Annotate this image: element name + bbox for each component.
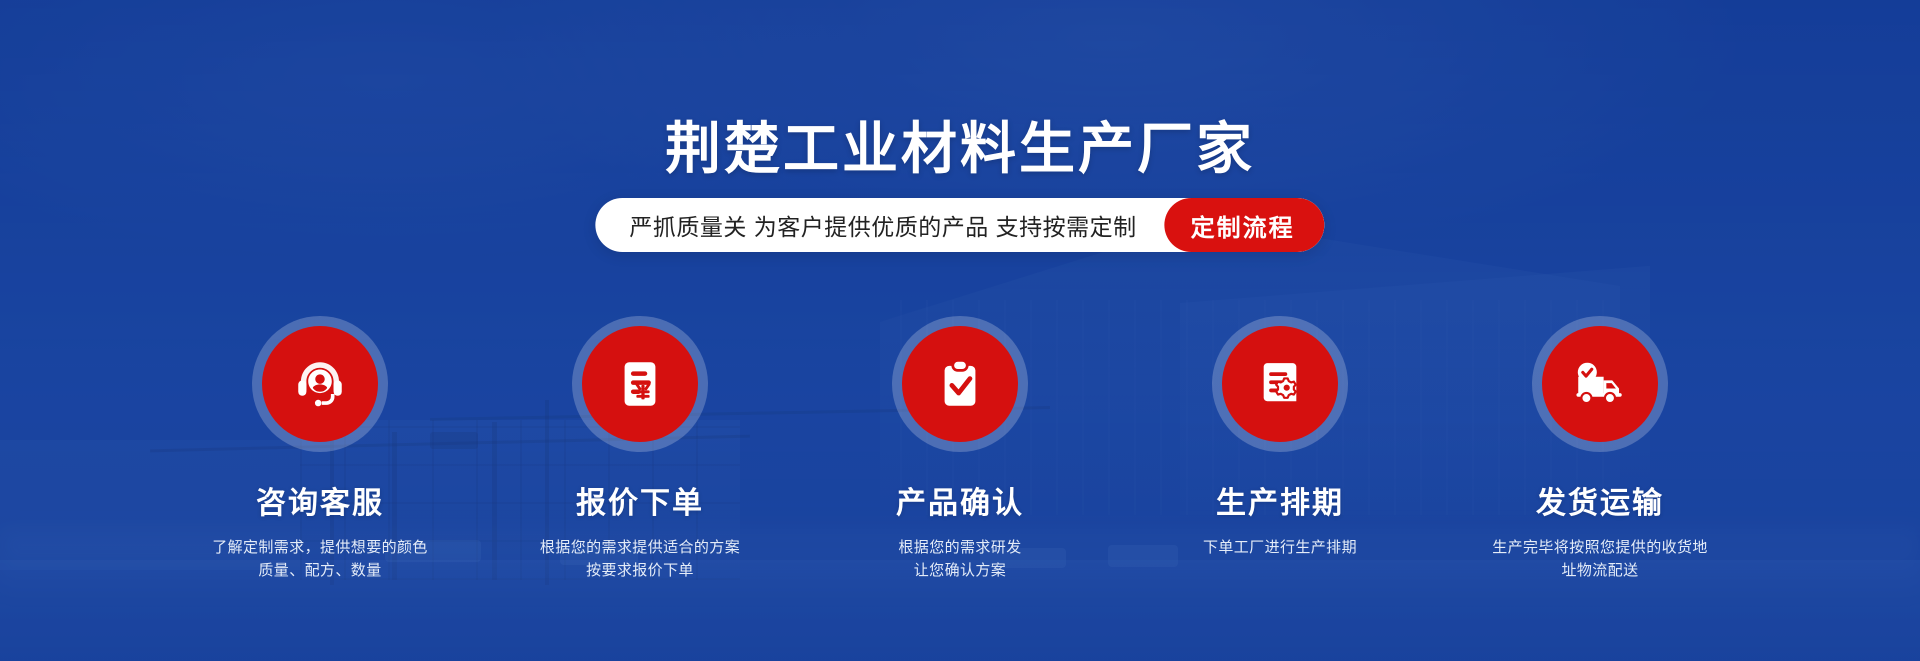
icon-disc xyxy=(262,326,378,442)
icon-halo-ring xyxy=(252,316,388,452)
process-steps: 咨询客服 了解定制需求，提供想要的颜色 质量、配方、数量 xyxy=(0,316,1920,583)
step-description: 生产完毕将按照您提供的收货地 址物流配送 xyxy=(1492,536,1708,583)
step-title: 发货运输 xyxy=(1536,478,1664,522)
step-description: 下单工厂进行生产排期 xyxy=(1203,536,1357,559)
step-item-consult[interactable]: 咨询客服 了解定制需求，提供想要的颜色 质量、配方、数量 xyxy=(189,316,451,583)
icon-halo-ring xyxy=(572,316,708,452)
step-item-shipping[interactable]: 发货运输 生产完毕将按照您提供的收货地 址物流配送 xyxy=(1469,316,1731,583)
icon-disc xyxy=(1542,326,1658,442)
icon-disc xyxy=(902,326,1018,442)
banner-content: 荆楚工业材料生产厂家 严抓质量关 为客户提供优质的产品 支持按需定制 定制流程 xyxy=(0,0,1920,661)
step-description: 根据您的需求提供适合的方案 按要求报价下单 xyxy=(540,536,740,583)
icon-disc xyxy=(1222,326,1338,442)
icon-halo-ring xyxy=(892,316,1028,452)
invoice-yuan-icon xyxy=(611,355,669,413)
delivery-truck-check-icon xyxy=(1571,355,1629,413)
icon-halo-ring xyxy=(1532,316,1668,452)
icon-disc xyxy=(582,326,698,442)
page-title: 荆楚工业材料生产厂家 xyxy=(0,104,1920,185)
custom-process-button[interactable]: 定制流程 xyxy=(1165,198,1325,252)
step-item-quote-order[interactable]: 报价下单 根据您的需求提供适合的方案 按要求报价下单 xyxy=(509,316,771,583)
step-item-production-schedule[interactable]: 生产排期 下单工厂进行生产排期 xyxy=(1149,316,1411,559)
step-item-product-confirm[interactable]: 产品确认 根据您的需求研发 让您确认方案 xyxy=(829,316,1091,583)
step-title: 咨询客服 xyxy=(256,478,384,522)
slogan-pill-bar: 严抓质量关 为客户提供优质的产品 支持按需定制 定制流程 xyxy=(595,198,1324,252)
slogan-text: 严抓质量关 为客户提供优质的产品 支持按需定制 xyxy=(595,208,1166,242)
clipboard-check-icon xyxy=(931,355,989,413)
promo-banner: 荆楚工业材料生产厂家 严抓质量关 为客户提供优质的产品 支持按需定制 定制流程 xyxy=(0,0,1920,661)
step-title: 报价下单 xyxy=(576,478,704,522)
step-title: 生产排期 xyxy=(1216,478,1344,522)
step-description: 了解定制需求，提供想要的颜色 质量、配方、数量 xyxy=(212,536,428,583)
headset-support-icon xyxy=(291,355,349,413)
step-description: 根据您的需求研发 让您确认方案 xyxy=(898,536,1021,583)
document-gear-icon xyxy=(1251,355,1309,413)
step-title: 产品确认 xyxy=(896,478,1024,522)
icon-halo-ring xyxy=(1212,316,1348,452)
